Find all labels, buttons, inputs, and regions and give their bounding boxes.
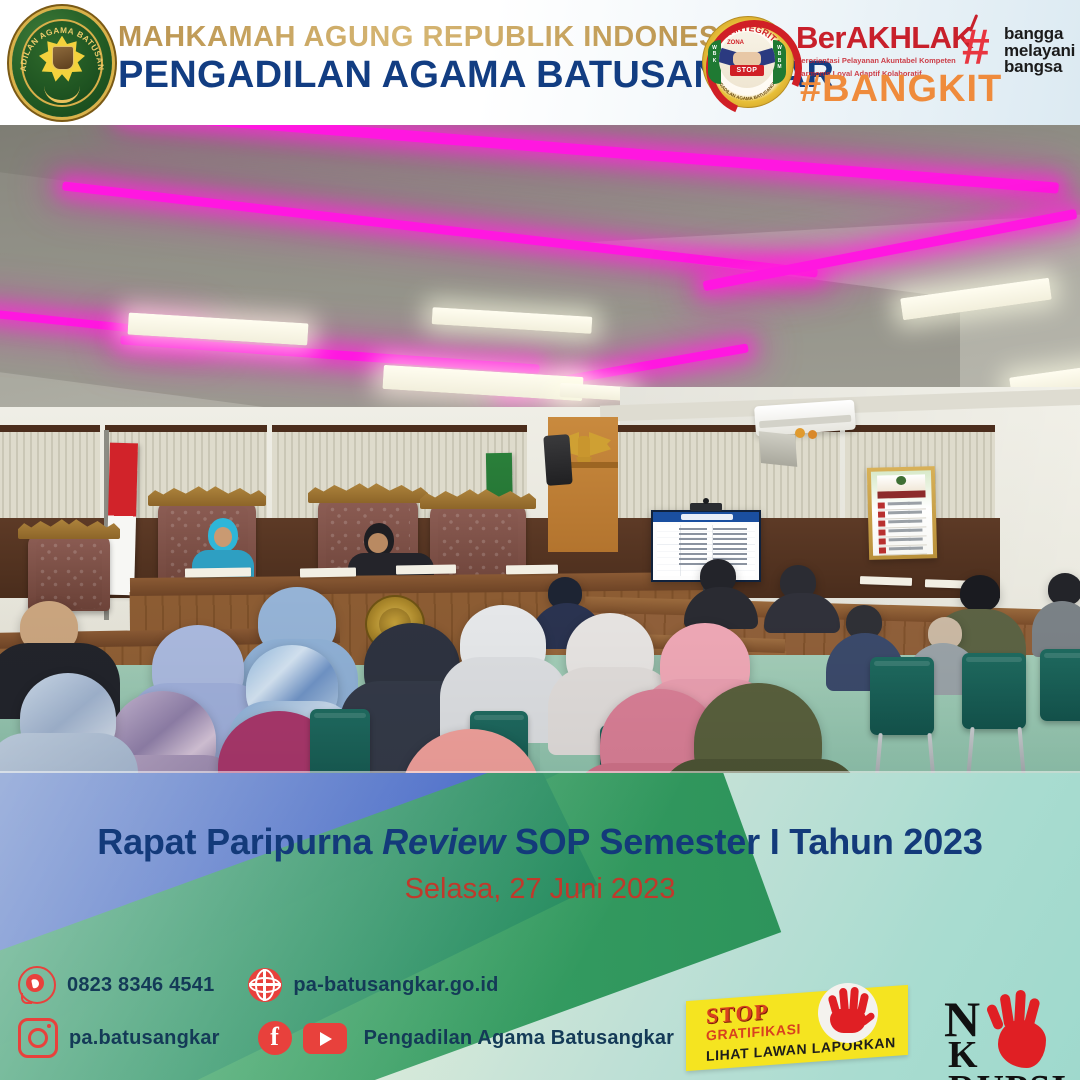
event-date: Selasa, 27 Juni 2023: [0, 873, 1080, 906]
event-title-part-1: Rapat Paripurna: [97, 821, 382, 862]
no-korupsi-badge: N K RUPSI: [942, 988, 1074, 1072]
framed-poster: [867, 466, 937, 560]
youtube-icon: [303, 1023, 347, 1054]
audience-chair: [310, 709, 370, 773]
window-blinds: [0, 425, 100, 530]
zi-stop-label: STOP: [730, 65, 764, 76]
hash-icon: #: [962, 25, 1006, 71]
audience-chair: [962, 653, 1026, 729]
zona-integritas-icon: ZONA INTEGRITAS PENGADILAN AGAMA BATUSAN…: [702, 12, 792, 110]
contact-block: 0823 8346 4541 pa-batusangkar.go.id pa.b…: [18, 966, 658, 1072]
website-url: pa-batusangkar.go.id: [293, 974, 498, 997]
header-banner: PENGADILAN AGAMA BATUSANGKAR MAHKAMAH AG…: [0, 0, 1080, 125]
event-title: Rapat Paripurna Review SOP Semester I Ta…: [0, 821, 1080, 863]
zi-inner-label: ZONA: [727, 40, 767, 47]
contact-instagram[interactable]: pa.batusangkar: [18, 1018, 220, 1058]
facebook-icon: f: [258, 1021, 292, 1055]
poster-root: PENGADILAN AGAMA BATUSANGKAR MAHKAMAH AG…: [0, 0, 1080, 1080]
webcam-icon: [690, 503, 722, 511]
audience-chair: [870, 657, 934, 735]
event-title-italic: Review: [382, 821, 505, 862]
caption-footer-panel: Rapat Paripurna Review SOP Semester I Ta…: [0, 773, 1080, 1080]
globe-icon: [248, 968, 282, 1002]
judge-chair: [28, 533, 110, 611]
speaker-icon: [543, 434, 572, 486]
red-hand-icon: [826, 987, 870, 1033]
contact-social[interactable]: f Pengadilan Agama Batusangkar: [258, 1021, 675, 1055]
bangkit-hashtag: #BANGKIT: [800, 70, 1002, 108]
event-photo: [0, 125, 1080, 773]
instagram-icon: [18, 1018, 58, 1058]
no-korupsi-rest: K RUPSI: [948, 1038, 1074, 1080]
audience-chair: [1040, 649, 1080, 721]
attendee: [960, 575, 1000, 611]
instagram-handle: pa.batusangkar: [69, 1027, 220, 1050]
court-emblem-icon: PENGADILAN AGAMA BATUSANGKAR: [12, 9, 112, 117]
svg-text:PENGADILAN AGAMA BATUSANGKAR: PENGADILAN AGAMA BATUSANGKAR: [12, 9, 105, 72]
event-title-part-2: SOP Semester I Tahun 2023: [505, 821, 983, 862]
whatsapp-number: 0823 8346 4541: [67, 974, 214, 997]
berakhlak-wordmark: BerAKHLAK: [796, 22, 973, 53]
contact-whatsapp[interactable]: 0823 8346 4541: [18, 966, 214, 1004]
contact-website[interactable]: pa-batusangkar.go.id: [248, 968, 498, 1002]
stop-gratifikasi-badge: STOP GRATIFIKASI LIHAT LAWAN LAPORKAN: [686, 983, 914, 1065]
indonesian-flag-icon: [106, 443, 138, 596]
whatsapp-icon: [18, 966, 56, 1004]
attendee-shoulders: [0, 733, 138, 773]
bangga-line-3: bangsa: [1004, 59, 1075, 76]
berakhlak-sub-1: Berorientasi Pelayanan Akuntabel Kompete…: [796, 56, 964, 66]
social-account-name: Pengadilan Agama Batusangkar: [364, 1027, 675, 1050]
